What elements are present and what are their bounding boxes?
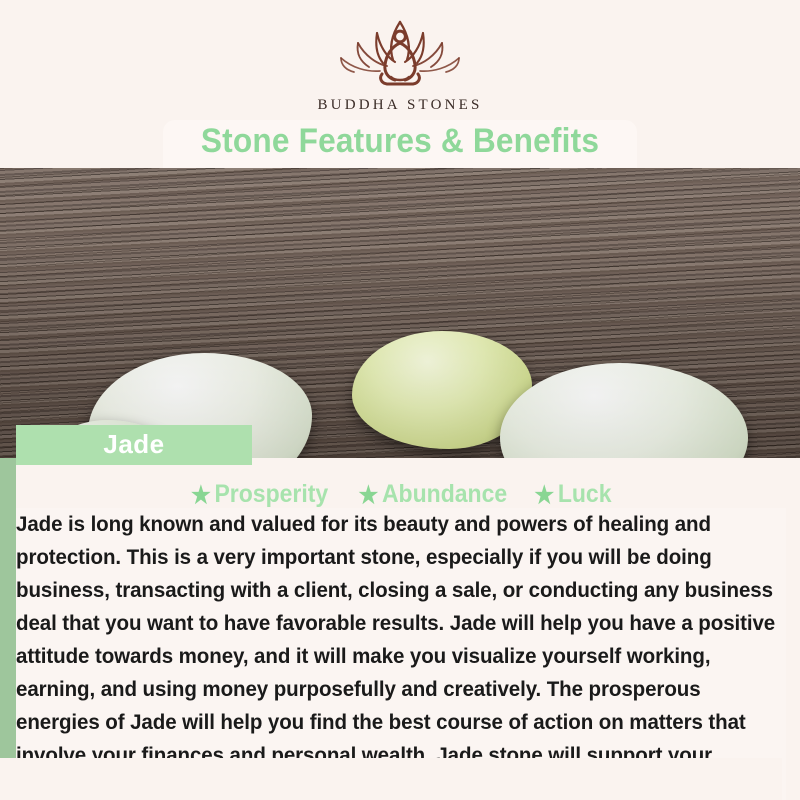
lotus-meditation-icon xyxy=(325,16,475,94)
benefit-item: ★Luck xyxy=(535,480,612,510)
infographic-card: BUDDHA STONES Stone Features & Benefits … xyxy=(0,0,800,800)
star-icon: ★ xyxy=(358,481,378,510)
benefit-item: ★Abundance xyxy=(358,480,507,510)
page-title: Stone Features & Benefits xyxy=(180,122,621,161)
star-icon: ★ xyxy=(535,481,555,510)
brand-logo: BUDDHA STONES xyxy=(0,16,800,114)
stone-name: Jade xyxy=(16,429,252,460)
benefit-label: Prosperity xyxy=(214,480,328,508)
bottom-spacer xyxy=(16,758,782,800)
benefit-item: ★Prosperity xyxy=(191,480,328,510)
benefit-label: Abundance xyxy=(382,480,507,508)
brand-name: BUDDHA STONES xyxy=(0,97,800,114)
benefit-label: Luck xyxy=(558,480,612,508)
benefits-row: ★Prosperity★Abundance★Luck xyxy=(0,480,800,510)
header: BUDDHA STONES Stone Features & Benefits xyxy=(0,0,800,168)
stone-photo xyxy=(0,168,800,458)
description-block: Jade is long known and valued for its be… xyxy=(16,508,786,800)
description-text: Jade is long known and valued for its be… xyxy=(16,508,785,800)
star-icon: ★ xyxy=(191,481,211,510)
